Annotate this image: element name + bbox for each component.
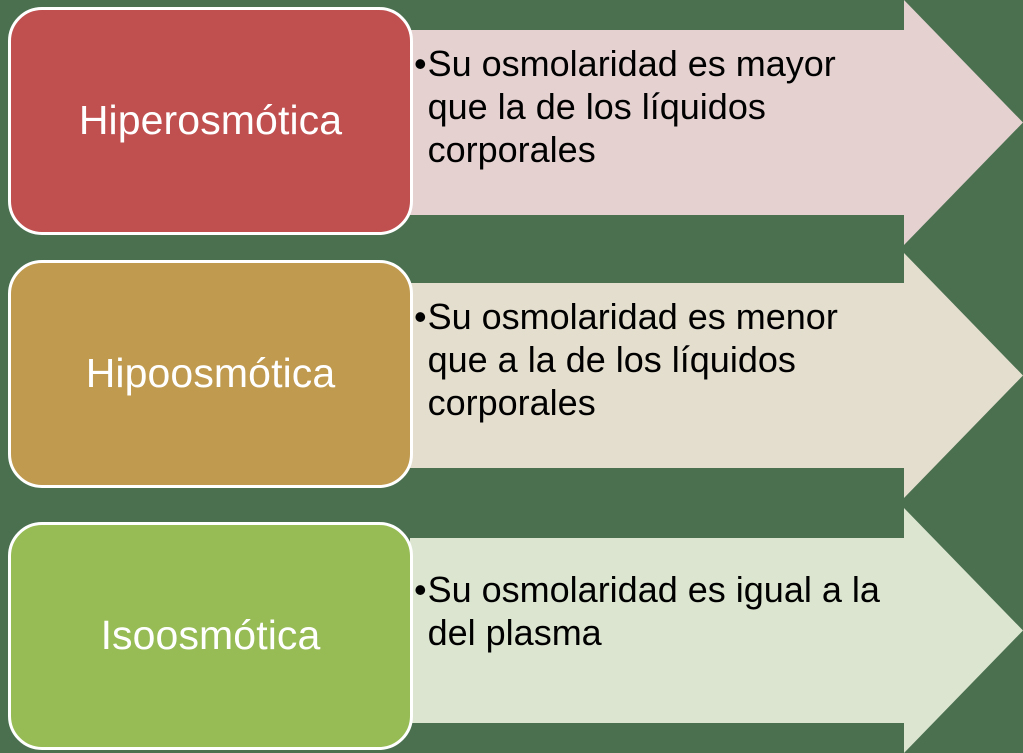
diagram-row: • Su osmolaridad es menor que a la de lo… — [0, 253, 1023, 498]
category-label: Hiperosmótica — [67, 98, 354, 143]
category-label: Isoosmótica — [89, 613, 333, 658]
category-box-hipoosmotica[interactable]: Hipoosmótica — [8, 260, 413, 488]
osmolarity-diagram: • Su osmolaridad es mayor que la de los … — [0, 0, 1023, 753]
bullet-icon: • — [414, 295, 427, 338]
category-box-isoosmotica[interactable]: Isoosmótica — [8, 522, 413, 750]
category-label: Hipoosmótica — [74, 351, 348, 396]
description-text: Su osmolaridad es igual a la del plasma — [428, 568, 904, 654]
description-text: Su osmolaridad es mayor que la de los lí… — [428, 42, 858, 172]
arrow-description: • Su osmolaridad es igual a la del plasm… — [414, 538, 904, 723]
bullet-icon: • — [414, 42, 427, 85]
arrow-description: • Su osmolaridad es menor que a la de lo… — [414, 283, 904, 468]
diagram-row: • Su osmolaridad es igual a la del plasm… — [0, 508, 1023, 753]
diagram-row: • Su osmolaridad es mayor que la de los … — [0, 0, 1023, 245]
bullet-icon: • — [414, 568, 427, 611]
description-text: Su osmolaridad es menor que a la de los … — [428, 295, 880, 425]
arrow-description: • Su osmolaridad es mayor que la de los … — [414, 30, 904, 215]
category-box-hiperosmotica[interactable]: Hiperosmótica — [8, 7, 413, 235]
